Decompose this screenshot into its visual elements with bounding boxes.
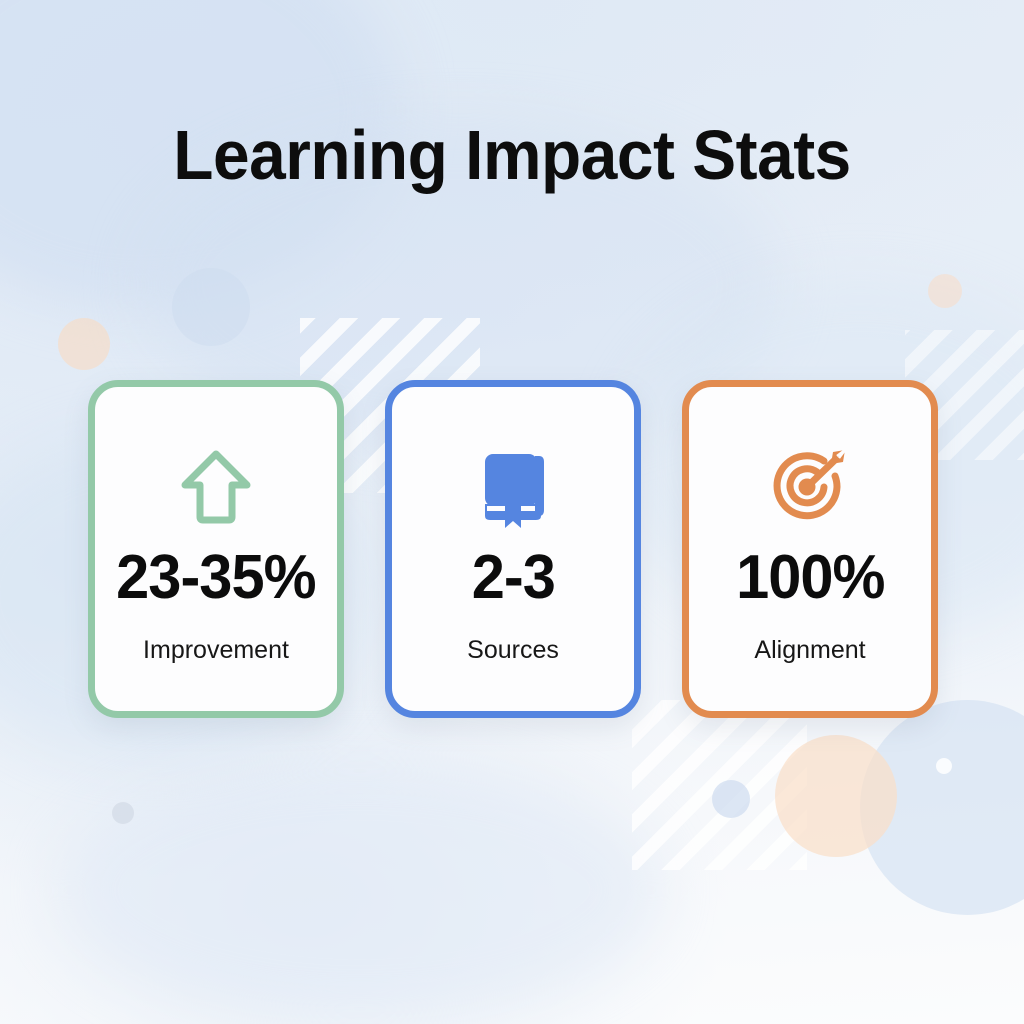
decorative-circle	[58, 318, 110, 370]
stat-value: 2-3	[471, 547, 554, 609]
up-arrow-icon	[179, 427, 253, 547]
decorative-circle	[172, 268, 250, 346]
decorative-circle	[112, 802, 134, 824]
decorative-circle	[860, 700, 1024, 915]
diagonal-stripes-decoration	[632, 700, 807, 870]
stat-label: Sources	[467, 638, 559, 663]
stat-card-improvement[interactable]: 23-35% Improvement	[88, 380, 344, 718]
stat-label: Alignment	[754, 638, 865, 663]
decorative-circle	[936, 758, 952, 774]
stat-card-alignment[interactable]: 100% Alignment	[682, 380, 938, 718]
page-title: Learning Impact Stats	[31, 118, 994, 194]
stat-value: 100%	[736, 547, 884, 609]
book-icon	[473, 427, 553, 547]
stat-card-list: 23-35% Improvement 2-3 S	[88, 380, 938, 720]
poster-canvas: Learning Impact Stats 23-35% Improvement	[0, 0, 1024, 1024]
stat-value: 23-35%	[116, 547, 315, 609]
stat-card-sources[interactable]: 2-3 Sources	[385, 380, 641, 718]
stat-label: Improvement	[143, 638, 289, 663]
decorative-circle	[712, 780, 750, 818]
decorative-circle	[775, 735, 897, 857]
target-icon	[767, 427, 853, 547]
background-blob	[60, 760, 660, 1020]
decorative-circle	[928, 274, 962, 308]
